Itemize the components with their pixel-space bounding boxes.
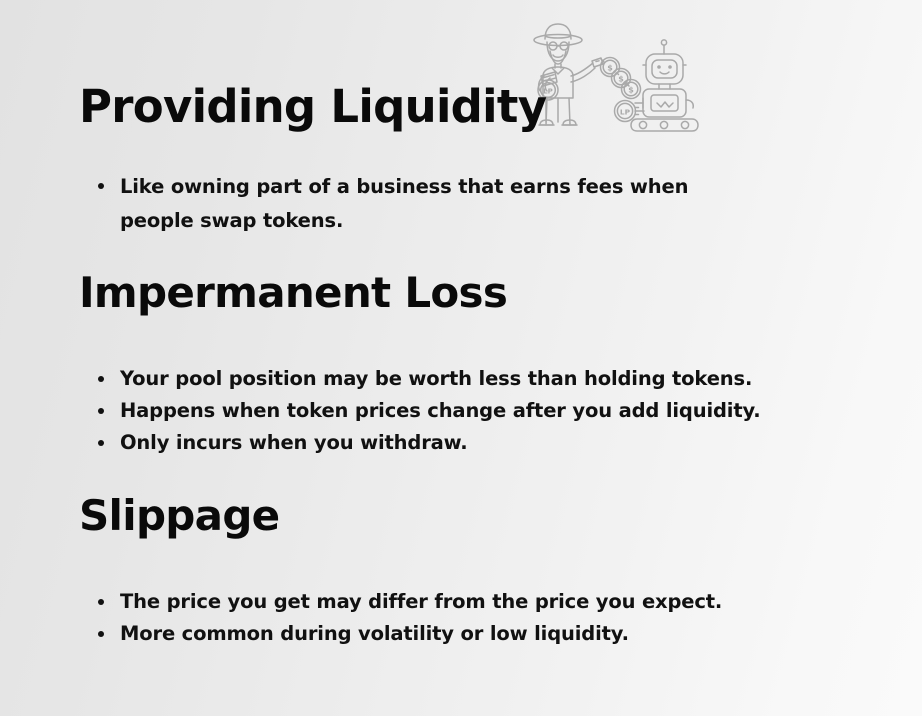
bullet-text: Only incurs when you withdraw. (120, 427, 856, 459)
bullet-text: Your pool position may be worth less tha… (120, 363, 856, 395)
bullet-item: Only incurs when you withdraw. (96, 427, 856, 459)
bullet-item: More common during volatility or low liq… (96, 618, 816, 650)
section-heading-providing-liquidity: Providing Liquidity (79, 84, 546, 131)
bullet-text: Like owning part of a business that earn… (120, 170, 716, 238)
bullet-dot-icon (98, 376, 104, 382)
lp-token-label-robot: LP (620, 108, 631, 117)
bullet-dot-icon (98, 631, 104, 637)
bullet-list-slippage: The price you get may differ from the pr… (96, 586, 816, 650)
svg-text:$: $ (607, 64, 613, 73)
bullet-list-impermanent-loss: Your pool position may be worth less tha… (96, 363, 856, 459)
svg-text:$: $ (628, 86, 634, 95)
bullet-item: Like owning part of a business that earn… (96, 170, 716, 238)
dollar-coin-chain: $ $ $ (601, 58, 641, 99)
bullet-item: Happens when token prices change after y… (96, 395, 856, 427)
bullet-text: The price you get may differ from the pr… (120, 586, 816, 618)
bullet-text: More common during volatility or low liq… (120, 618, 816, 650)
bullet-item: The price you get may differ from the pr… (96, 586, 816, 618)
bullet-dot-icon (98, 599, 104, 605)
bullet-dot-icon (98, 408, 104, 414)
bullet-list-providing-liquidity: Like owning part of a business that earn… (96, 170, 716, 238)
robot-figure (631, 40, 698, 131)
bullet-dot-icon (98, 183, 104, 189)
slide-canvas: LP $ $ $ (0, 0, 922, 716)
bullet-dot-icon (98, 440, 104, 446)
section-heading-slippage: Slippage (79, 494, 279, 538)
bullet-item: Your pool position may be worth less tha… (96, 363, 856, 395)
bullet-text: Happens when token prices change after y… (120, 395, 856, 427)
section-heading-impermanent-loss: Impermanent Loss (79, 271, 507, 315)
